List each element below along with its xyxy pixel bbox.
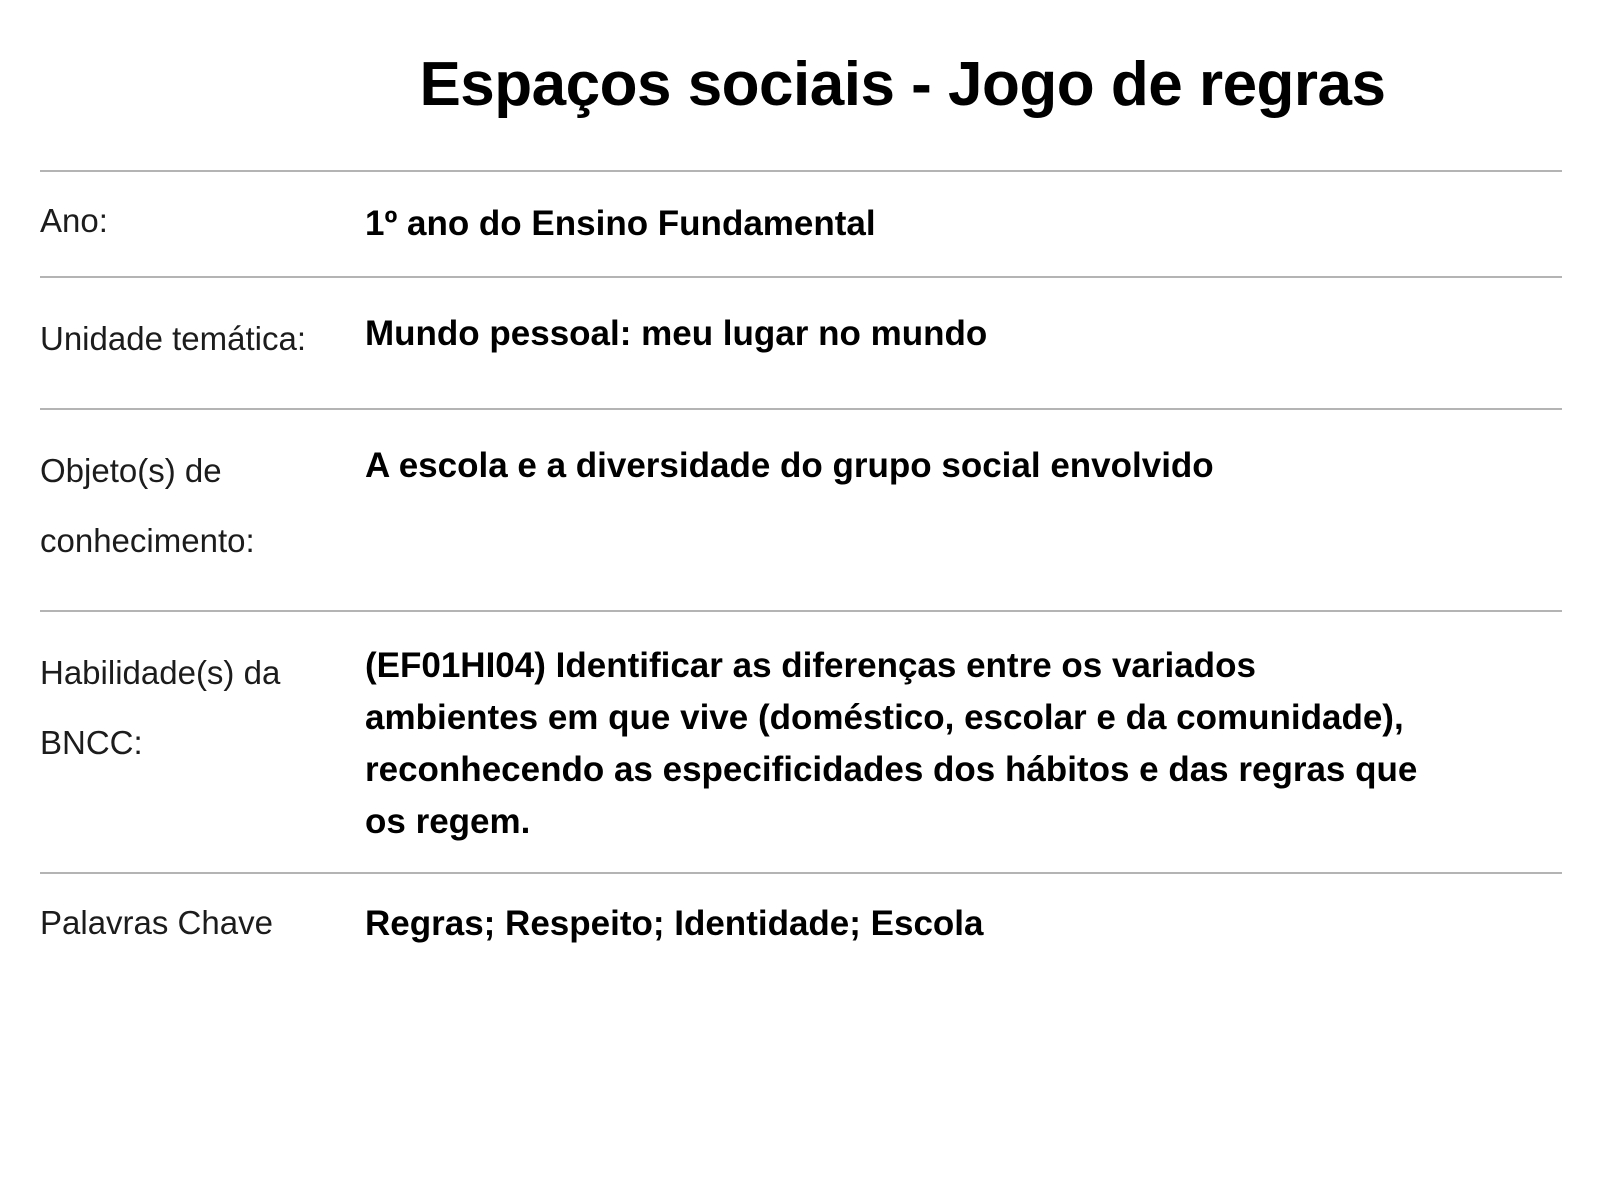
row-label-objeto-conhecimento: Objeto(s) de conhecimento: [40,409,365,611]
lesson-plan-sheet: Espaços sociais - Jogo de regras Ano: 1º… [0,0,1600,1200]
row-value-habilidade-bncc-text: (EF01HI04) Identificar as diferenças ent… [365,640,1420,848]
row-label-ano: Ano: [40,171,365,277]
row-value-ano-text: 1º ano do Ensino Fundamental [365,198,1420,250]
row-value-unidade-tematica: Mundo pessoal: meu lugar no mundo [365,277,1562,409]
table-row: Unidade temática: Mundo pessoal: meu lug… [40,277,1562,409]
row-value-ano: 1º ano do Ensino Fundamental [365,171,1562,277]
row-value-unidade-tematica-text: Mundo pessoal: meu lugar no mundo [365,308,1420,360]
table-row: Palavras Chave Regras; Respeito; Identid… [40,873,1562,982]
page-title: Espaços sociais - Jogo de regras [365,47,1440,123]
row-value-objeto-conhecimento-text: A escola e a diversidade do grupo social… [365,440,1420,492]
row-label-habilidade-bncc: Habilidade(s) da BNCC: [40,611,365,873]
lesson-metadata-table: Ano: 1º ano do Ensino Fundamental Unidad… [40,170,1562,982]
row-label-unidade-tematica: Unidade temática: [40,277,365,409]
row-value-objeto-conhecimento: A escola e a diversidade do grupo social… [365,409,1562,611]
table-row: Ano: 1º ano do Ensino Fundamental [40,171,1562,277]
table-row: Habilidade(s) da BNCC: (EF01HI04) Identi… [40,611,1562,873]
table-row: Objeto(s) de conhecimento: A escola e a … [40,409,1562,611]
row-value-palavras-chave-text: Regras; Respeito; Identidade; Escola [365,898,1420,950]
row-value-habilidade-bncc: (EF01HI04) Identificar as diferenças ent… [365,611,1562,873]
row-label-palavras-chave: Palavras Chave [40,873,365,982]
row-value-palavras-chave: Regras; Respeito; Identidade; Escola [365,873,1562,982]
